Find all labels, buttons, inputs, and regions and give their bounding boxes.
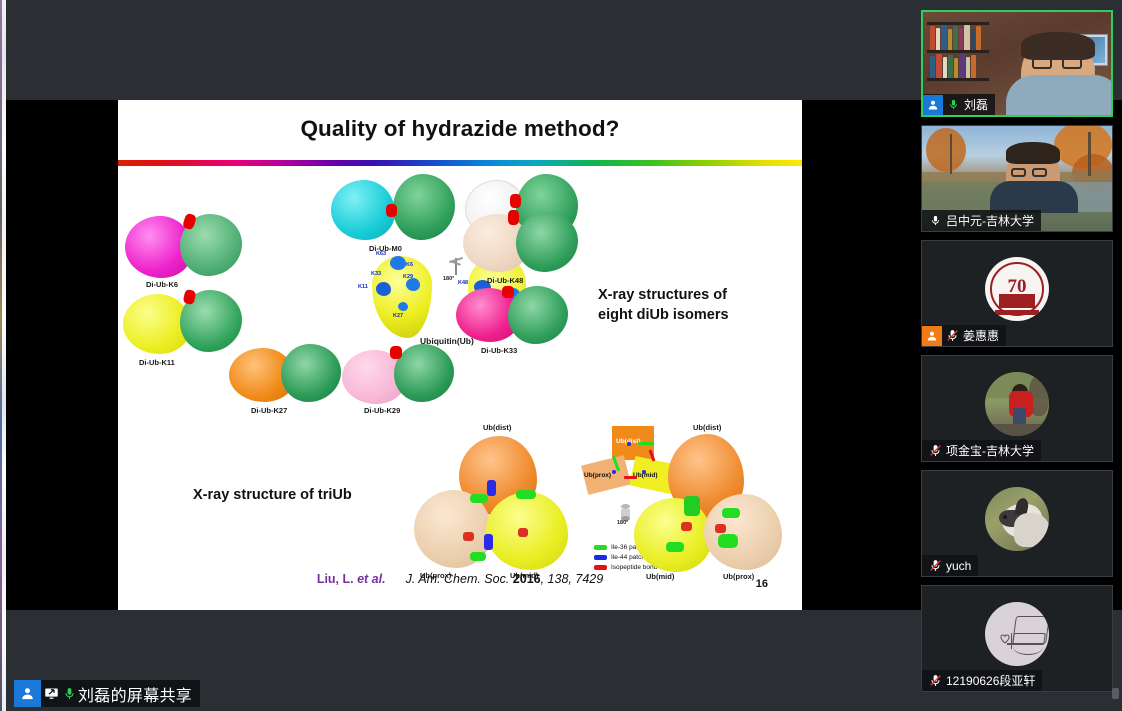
background-window-sliver[interactable] <box>0 0 6 711</box>
patch-k11-left <box>376 282 391 296</box>
triub-schematic: Ub(dist) Ub(prox) Ub(mid) <box>580 426 676 500</box>
person-icon <box>14 680 41 707</box>
label-di-ub-k29: Di-Ub-K29 <box>364 406 400 415</box>
microphone-muted-icon <box>925 670 946 691</box>
participant-namebar-xiangjinbao: 项金宝-吉林大学 <box>922 440 1041 461</box>
participant-name: 刘磊 <box>964 96 988 113</box>
microphone-muted-icon <box>925 555 946 576</box>
triub-left-patch-i36b <box>516 490 536 499</box>
isopeptide-link-k33 <box>502 286 514 298</box>
anniversary-logo-icon: 70 <box>985 257 1049 321</box>
microphone-icon <box>943 94 964 115</box>
citation: Liu, L. et al.J. Am. Chem. Soc. 2016, 13… <box>118 572 802 586</box>
schematic-label-prox: Ub(prox) <box>584 472 611 479</box>
triub-left-patch-i44a <box>487 480 496 496</box>
schematic-rotation-degrees: 180° <box>617 520 628 526</box>
schematic-patch-green-1 <box>638 442 654 445</box>
screen-share-label: 刘磊的屏幕共享 <box>78 682 192 706</box>
triub-right-mid <box>634 498 712 572</box>
microphone-muted-icon <box>925 440 946 461</box>
isopeptide-link-k48 <box>508 210 519 225</box>
participant-tile-jianghuihui[interactable]: 70 姜惠惠 <box>921 240 1113 347</box>
schematic-rotation-cylinder: 180° <box>621 504 630 521</box>
participant-namebar-luzhongyuan: 吕中元-吉林大学 <box>922 210 1041 231</box>
patch-k63-left <box>390 256 406 270</box>
heading-xray-triub: X-ray structure of triUb <box>193 486 352 506</box>
schematic-patch-red-2 <box>624 476 637 479</box>
triub-left-patch-i36a <box>470 494 488 503</box>
legend-swatch-ile44 <box>594 555 607 560</box>
klabel-k6-left: K6 <box>406 262 413 268</box>
lineart-avatar <box>985 602 1049 666</box>
isopeptide-link-k63 <box>510 194 521 208</box>
rainbow-divider <box>118 160 802 166</box>
klabel-k48-right: K48 <box>458 280 468 286</box>
participant-avatar-duanyaxuan <box>985 602 1049 666</box>
shared-slide: Quality of hydrazide method? Di-Ub-M0 Di… <box>118 100 802 612</box>
label-di-ub-k11: Di-Ub-K11 <box>139 358 175 367</box>
participant-name: 项金宝-吉林大学 <box>946 442 1034 459</box>
participant-name: yuch <box>946 559 971 573</box>
isopeptide-link-m0 <box>386 204 397 217</box>
label-di-ub-k27: Di-Ub-K27 <box>251 406 287 415</box>
participant-tile-luzhongyuan[interactable]: 吕中元-吉林大学 <box>921 125 1113 232</box>
participant-filmstrip[interactable]: 刘磊 <box>921 10 1117 700</box>
legend-item-isopeptide: Isopeptide bond <box>594 564 657 571</box>
klabel-k33-left: K33 <box>371 271 381 277</box>
participant-name: 姜惠惠 <box>963 327 999 344</box>
label-ubdist-left: Ub(dist) <box>483 423 511 432</box>
participant-namebar-liulei: 刘磊 <box>923 94 995 115</box>
participant-body-liulei <box>1006 75 1113 115</box>
protein-green-k48 <box>516 212 578 272</box>
participant-avatar-xiangjinbao <box>985 372 1049 436</box>
citation-authors: Liu, L. et al. <box>317 572 386 586</box>
klabel-k63-left: K63 <box>376 251 386 257</box>
participant-avatar-jianghuihui: 70 <box>985 257 1049 321</box>
schematic-dot-blue-1 <box>627 442 631 446</box>
scrollbar-thumb[interactable] <box>1112 688 1119 699</box>
participant-avatar-yuch <box>985 487 1049 551</box>
triub-right-patch-i36c <box>718 534 738 548</box>
patch-k27-left <box>398 302 408 311</box>
klabel-k27-left: K27 <box>393 313 403 319</box>
triub-right-bond-a <box>681 522 692 531</box>
person-icon <box>922 326 942 346</box>
participant-body-luzhongyuan <box>990 181 1078 213</box>
legend-swatch-isopeptide <box>594 565 607 570</box>
legend-swatch-ile36 <box>594 545 607 550</box>
triub-left-patch-i36c <box>470 552 486 561</box>
screen-share-icon <box>41 680 61 707</box>
participant-name: 吕中元-吉林大学 <box>946 212 1034 229</box>
triub-left-bond-b <box>518 528 528 537</box>
screen-share-indicator: 刘磊的屏幕共享 <box>14 680 200 707</box>
klabel-k29-left: K29 <box>403 274 413 280</box>
protein-green-k29 <box>394 344 454 402</box>
participant-tile-duanyaxuan[interactable]: 12190626段亚轩 <box>921 585 1113 692</box>
label-di-ub-k33: Di-Ub-K33 <box>481 346 517 355</box>
triub-left-patch-i44b <box>484 534 493 550</box>
child-photo <box>985 372 1049 436</box>
microphone-icon <box>61 680 78 707</box>
legend-label-isopeptide: Isopeptide bond <box>611 564 657 571</box>
rotation-degrees-label: 180° <box>443 276 454 282</box>
dog-photo <box>985 487 1049 551</box>
label-di-ub-k6: Di-Ub-K6 <box>146 280 178 289</box>
triub-right-patch-i36d <box>666 542 684 552</box>
heading-xray-diub-line1: X-ray structures of <box>598 286 729 306</box>
person-icon <box>923 95 943 115</box>
label-ubdist-right: Ub(dist) <box>693 423 721 432</box>
citation-journal: J. Am. Chem. Soc. 2016, 138, 7429 <box>406 572 604 586</box>
slide-page-number: 16 <box>756 578 768 590</box>
klabel-k11-left: K11 <box>358 284 368 290</box>
schematic-dot-blue-2 <box>612 470 616 474</box>
microphone-icon <box>925 210 946 231</box>
participant-namebar-jianghuihui: 姜惠惠 <box>922 325 1006 346</box>
microphone-muted-icon <box>942 325 963 346</box>
label-di-ub-k48: Di-Ub-K48 <box>487 276 523 285</box>
participant-tile-liulei[interactable]: 刘磊 <box>921 10 1113 117</box>
slide-title: Quality of hydrazide method? <box>118 116 802 142</box>
slide-figure: Di-Ub-M0 Di-Ub-K63 Di-Ub-K6 Di-Ub-K11 K6… <box>118 168 802 612</box>
participant-namebar-duanyaxuan: 12190626段亚轩 <box>922 670 1042 691</box>
triub-right-patch-i36b <box>722 508 740 518</box>
triub-left-bond-a <box>463 532 474 541</box>
triub-right-bond-b <box>715 524 726 533</box>
triub-right-patch-i36a <box>684 496 700 516</box>
participant-tile-xiangjinbao[interactable]: 项金宝-吉林大学 <box>921 355 1113 462</box>
participant-namebar-yuch: yuch <box>922 555 978 576</box>
participant-tile-yuch[interactable]: yuch <box>921 470 1113 577</box>
isopeptide-link-k29 <box>390 346 402 359</box>
heading-xray-diub: X-ray structures of eight diUb isomers <box>598 286 729 325</box>
heading-xray-diub-line2: eight diUb isomers <box>598 306 729 326</box>
participant-name: 12190626段亚轩 <box>946 672 1035 689</box>
protein-green-k33 <box>508 286 568 344</box>
zoom-meeting-window: Quality of hydrazide method? Di-Ub-M0 Di… <box>0 0 1122 711</box>
schematic-dot-blue-3 <box>642 470 646 474</box>
protein-green-m0 <box>393 174 455 240</box>
protein-green-k27 <box>281 344 341 402</box>
